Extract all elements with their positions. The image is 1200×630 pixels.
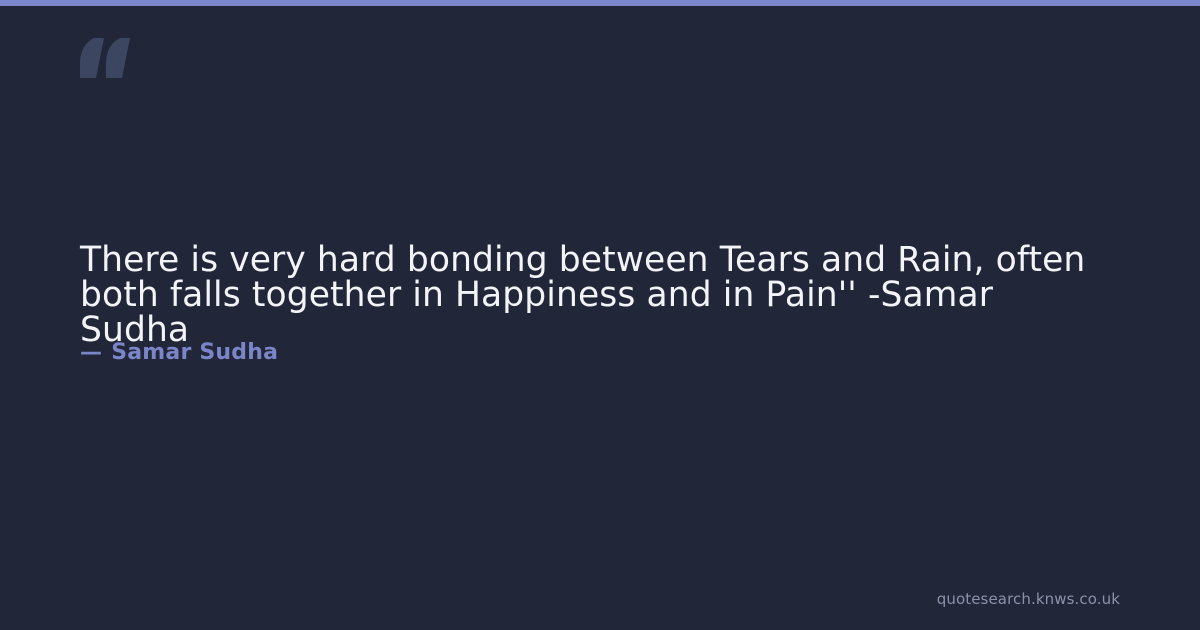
source-watermark: quotesearch.knws.co.uk <box>937 590 1120 608</box>
double-quote-icon <box>80 38 132 80</box>
attribution-author: Samar Sudha <box>111 340 278 365</box>
quote-attribution: —Samar Sudha <box>80 338 278 368</box>
quote-text: There is very hard bonding between Tears… <box>80 243 1096 348</box>
quote-card: There is very hard bonding between Tears… <box>0 0 1200 630</box>
top-accent-bar <box>0 0 1200 6</box>
attribution-dash: — <box>80 338 102 368</box>
